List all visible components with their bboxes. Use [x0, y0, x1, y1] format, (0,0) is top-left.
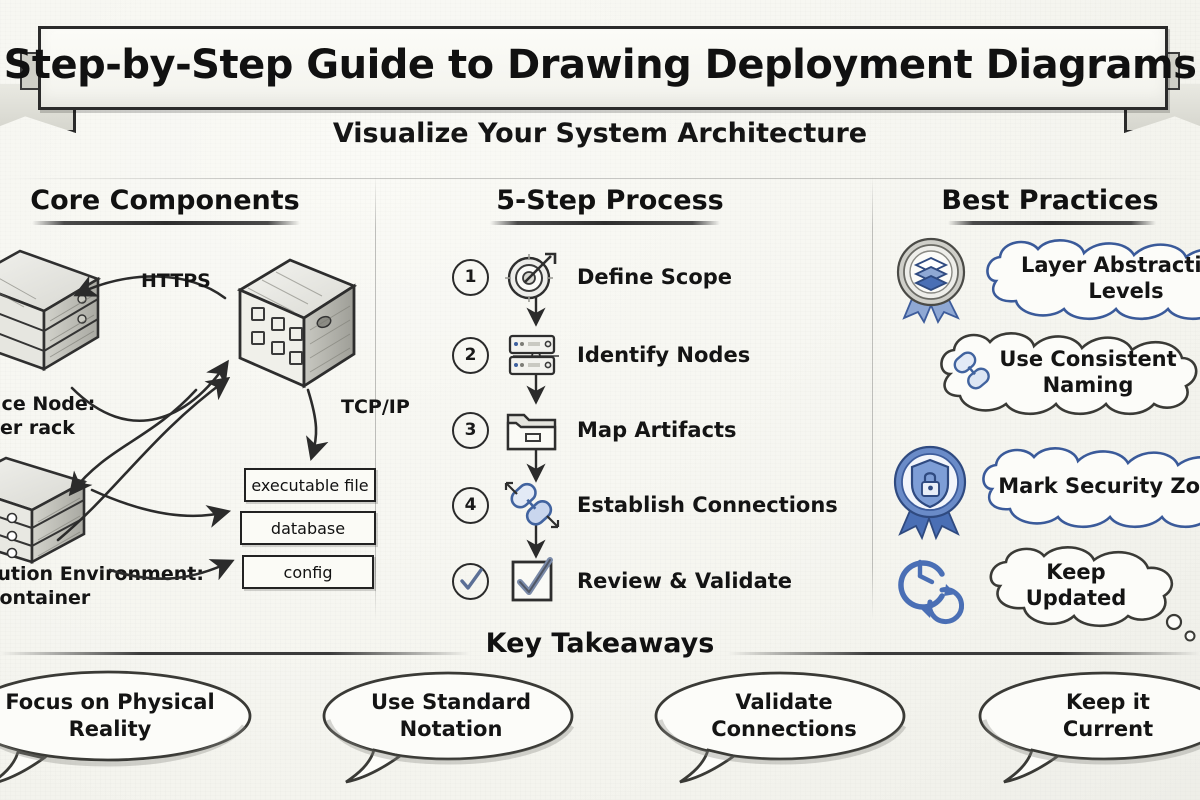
best-practice-row-3[interactable]: Mark Security Zones	[884, 440, 1200, 532]
step-number-4: 4	[452, 487, 489, 524]
heading-best-practices: Best Practices	[900, 185, 1200, 216]
best-practice-label-3: Mark Security Zones	[972, 443, 1200, 529]
step-row-5[interactable]: Review & Validate	[452, 556, 792, 606]
server-icon	[503, 330, 561, 380]
artifact-executable-file: executable file	[244, 468, 376, 502]
artifact-config: config	[242, 555, 374, 589]
thought-cloud-bubble-4: Keep Updated	[978, 542, 1184, 628]
step-number-1: 1	[452, 259, 489, 296]
heading-underline-right	[948, 221, 1156, 225]
section-rule-top	[0, 178, 1200, 179]
step-label-1: Define Scope	[577, 265, 732, 289]
takeaway-3-line2: Connections	[711, 717, 857, 741]
key-takeaways-rule-left	[0, 652, 470, 655]
step-row-2[interactable]: 2 Identify Nodes	[452, 330, 750, 380]
takeaway-label-1: Focus on Physical Reality	[0, 668, 260, 764]
step-number-3: 3	[452, 412, 489, 449]
takeaway-label-2: Use Standard Notation	[318, 668, 584, 764]
heading-underline-left	[32, 221, 300, 225]
takeaway-3-line1: Validate	[735, 690, 832, 714]
takeaway-bubble-3[interactable]: Validate Connections	[650, 668, 918, 778]
target-icon	[503, 252, 561, 302]
page-subtitle: Visualize Your System Architecture	[0, 118, 1200, 149]
layers-badge-icon	[888, 232, 974, 324]
page-title: Step-by-Step Guide to Drawing Deployment…	[38, 26, 1162, 104]
step-number-5	[452, 563, 489, 600]
best-practice-row-4[interactable]: Keep Updated	[890, 542, 1184, 628]
folder-icon	[503, 405, 561, 455]
takeaway-label-3: Validate Connections	[650, 668, 918, 764]
takeaway-4-line2: Current	[1063, 717, 1153, 741]
takeaway-bubble-2[interactable]: Use Standard Notation	[318, 668, 584, 778]
shield-lock-badge-icon	[884, 440, 970, 532]
connector-label-https: HTTPS	[141, 270, 211, 292]
link-icon-small	[950, 348, 996, 396]
heading-core-components: Core Components	[0, 185, 330, 216]
step-label-4: Establish Connections	[577, 493, 838, 517]
takeaway-label-4: Keep it Current	[976, 668, 1200, 764]
best-practice-label-4: Keep Updated	[978, 542, 1174, 628]
artifact-executable-file-label: executable file	[251, 476, 368, 495]
cloud-bubble-1: Layer Abstraction Levels	[976, 235, 1200, 321]
checkbox-icon	[503, 556, 561, 606]
heading-underline-middle	[490, 221, 720, 225]
column-divider-right	[872, 175, 873, 620]
step-number-2: 2	[452, 337, 489, 374]
step-row-3[interactable]: 3 Map Artifacts	[452, 405, 737, 455]
cloud-bubble-2: Use Consistent Naming	[932, 326, 1200, 418]
title-banner: Step-by-Step Guide to Drawing Deployment…	[38, 26, 1162, 104]
check-icon	[458, 568, 484, 594]
link-icon	[503, 480, 561, 530]
infographic-canvas: Step-by-Step Guide to Drawing Deployment…	[0, 0, 1200, 800]
best-practice-row-2[interactable]: Use Consistent Naming	[930, 326, 1200, 418]
key-takeaways-rule-right	[728, 652, 1200, 655]
cloud-bubble-3: Mark Security Zones	[972, 443, 1200, 529]
takeaway-1-line1: Focus on Physical	[5, 690, 214, 714]
step-label-3: Map Artifacts	[577, 418, 737, 442]
best-practice-row-1[interactable]: Layer Abstraction Levels	[888, 232, 1200, 324]
clock-refresh-icon	[890, 544, 970, 626]
connection-arrows	[0, 240, 400, 600]
takeaway-2-line2: Notation	[400, 717, 503, 741]
connector-label-tcpip: TCP/IP	[341, 396, 410, 418]
best-practice-label-1: Layer Abstraction Levels	[976, 235, 1200, 321]
step-label-5: Review & Validate	[577, 569, 792, 593]
artifact-database-label: database	[271, 519, 345, 538]
takeaway-4-line1: Keep it	[1066, 690, 1150, 714]
takeaway-1-line2: Reality	[69, 717, 152, 741]
step-row-1[interactable]: 1 Define Scope	[452, 252, 732, 302]
takeaway-bubble-1[interactable]: Focus on Physical Reality	[0, 668, 260, 778]
takeaway-2-line1: Use Standard	[371, 690, 531, 714]
step-row-4[interactable]: 4 Establish Connections	[452, 480, 838, 530]
heading-5-step-process: 5-Step Process	[420, 185, 800, 216]
takeaway-bubble-4[interactable]: Keep it Current	[976, 668, 1200, 778]
artifact-database: database	[240, 511, 376, 545]
artifact-config-label: config	[284, 563, 333, 582]
step-label-2: Identify Nodes	[577, 343, 750, 367]
